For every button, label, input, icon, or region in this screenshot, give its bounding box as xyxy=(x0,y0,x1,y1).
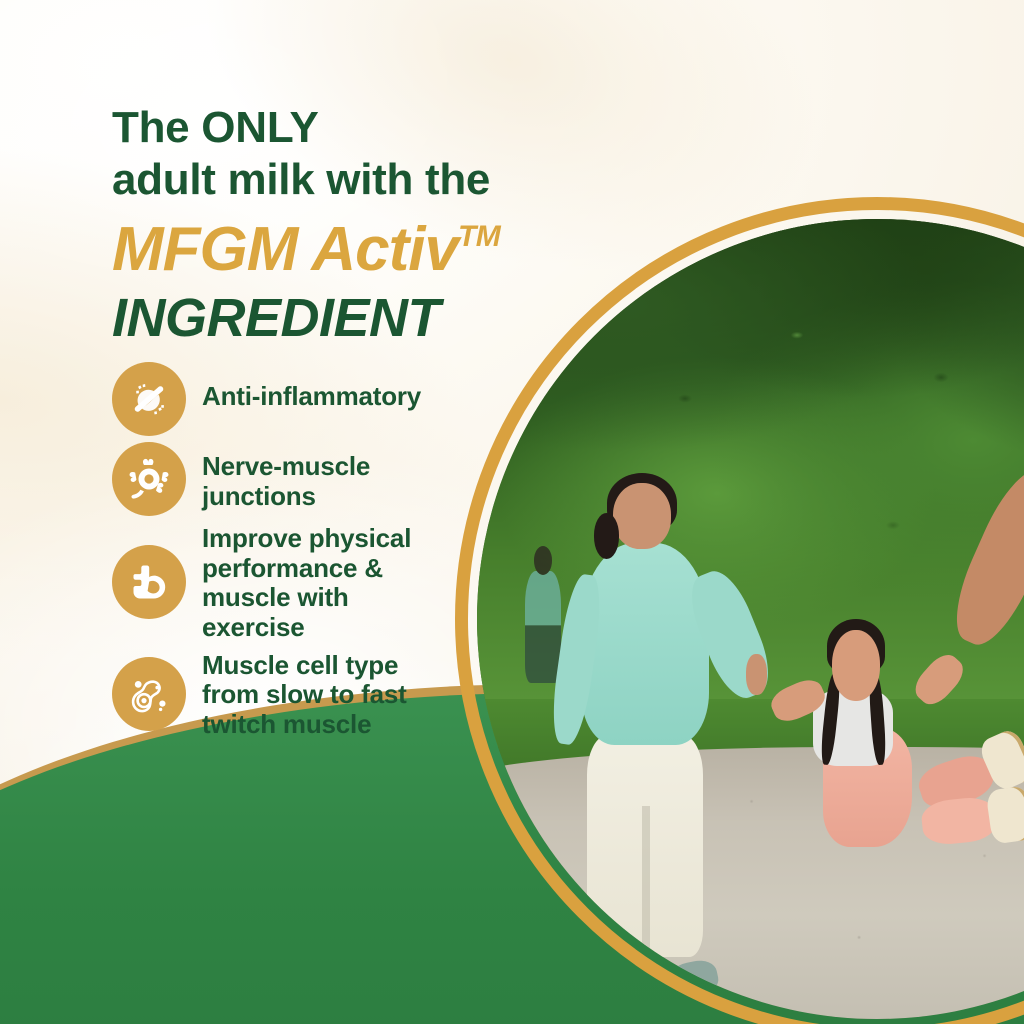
brand-name: MFGM ActivTM xyxy=(112,219,592,281)
benefit-item: Nerve-muscle junctions xyxy=(112,442,512,516)
photo-person-father xyxy=(1005,443,1024,987)
headline-line1-strong: ONLY xyxy=(201,103,318,152)
brand-subtitle: INGREDIENT xyxy=(112,291,592,345)
benefit-item: Improve physical performance & muscle wi… xyxy=(112,522,512,643)
photo-background-walker xyxy=(525,571,561,683)
brand-name-text: MFGM Activ xyxy=(112,215,458,284)
benefit-item: Muscle cell type from slow to fast twitc… xyxy=(112,649,512,740)
neuron-icon xyxy=(112,442,186,516)
headline-line2: adult milk with the xyxy=(112,156,592,204)
page-title: The ONLY adult milk with the xyxy=(112,104,592,203)
benefit-item: Anti-inflammatory xyxy=(112,362,512,436)
benefits-list: Anti-inflammatory Nerve-muscle junctio xyxy=(112,362,512,745)
trademark-symbol: TM xyxy=(458,220,500,253)
benefit-label: Anti-inflammatory xyxy=(202,362,421,412)
photo-person-girl xyxy=(797,619,957,891)
anti-inflammatory-icon xyxy=(112,362,186,436)
photo-person-mother xyxy=(565,483,725,987)
promo-canvas: The ONLY adult milk with the MFGM ActivT… xyxy=(0,0,1024,1024)
headline-block: The ONLY adult milk with the MFGM ActivT… xyxy=(112,104,592,345)
benefit-label: Nerve-muscle junctions xyxy=(202,442,370,511)
muscle-cell-icon xyxy=(112,657,186,731)
headline-line1-prefix: The xyxy=(112,103,201,152)
benefit-label: Improve physical performance & muscle wi… xyxy=(202,522,411,643)
bicep-icon xyxy=(112,545,186,619)
benefit-label: Muscle cell type from slow to fast twitc… xyxy=(202,649,407,740)
